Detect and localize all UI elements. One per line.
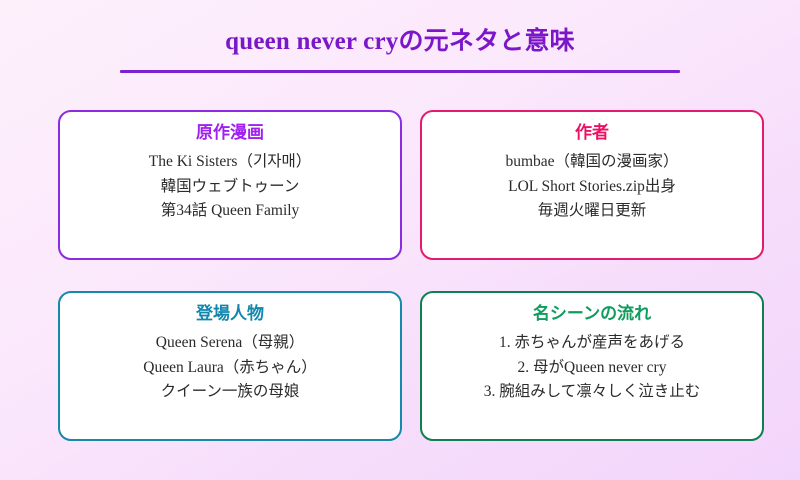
card-source-line-2: 韓国ウェブトゥーン bbox=[161, 177, 300, 196]
card-author: 作者 bumbae（韓国の漫画家） LOL Short Stories.zip出… bbox=[420, 110, 764, 260]
card-author-lines: bumbae（韓国の漫画家） LOL Short Stories.zip出身 毎… bbox=[432, 152, 752, 220]
card-author-line-1: bumbae（韓国の漫画家） bbox=[505, 152, 678, 171]
card-scene-step-1: 1. 赤ちゃんが産声をあげる bbox=[499, 333, 685, 352]
card-scene-lines: 1. 赤ちゃんが産声をあげる 2. 母がQueen never cry 3. 腕… bbox=[432, 333, 752, 401]
card-source-line-1: The Ki Sisters（기자매） bbox=[149, 152, 311, 171]
card-source-title: 原作漫画 bbox=[196, 123, 264, 143]
card-characters-lines: Queen Serena（母親） Queen Laura（赤ちゃん） クイーン一… bbox=[70, 333, 390, 401]
card-author-line-3: 毎週火曜日更新 bbox=[538, 201, 647, 220]
card-author-line-2: LOL Short Stories.zip出身 bbox=[508, 177, 676, 196]
card-source-lines: The Ki Sisters（기자매） 韓国ウェブトゥーン 第34話 Queen… bbox=[70, 152, 390, 220]
card-scene-step-2: 2. 母がQueen never cry bbox=[518, 358, 667, 377]
card-scene-step-3: 3. 腕組みして凛々しく泣き止む bbox=[484, 382, 701, 401]
card-scene: 名シーンの流れ 1. 赤ちゃんが産声をあげる 2. 母がQueen never … bbox=[420, 291, 764, 441]
page-title: queen never cryの元ネタと意味 bbox=[0, 28, 800, 56]
card-source: 原作漫画 The Ki Sisters（기자매） 韓国ウェブトゥーン 第34話 … bbox=[58, 110, 402, 260]
infographic-root: queen never cryの元ネタと意味 原作漫画 The Ki Siste… bbox=[0, 0, 800, 480]
card-author-title: 作者 bbox=[575, 123, 609, 143]
card-characters-line-3: クイーン一族の母娘 bbox=[161, 382, 300, 401]
header: queen never cryの元ネタと意味 bbox=[0, 0, 800, 73]
title-divider bbox=[120, 70, 680, 73]
card-characters-title: 登場人物 bbox=[196, 304, 264, 324]
card-characters-line-2: Queen Laura（赤ちゃん） bbox=[143, 358, 316, 377]
card-characters-line-1: Queen Serena（母親） bbox=[156, 333, 305, 352]
card-characters: 登場人物 Queen Serena（母親） Queen Laura（赤ちゃん） … bbox=[58, 291, 402, 441]
card-scene-title: 名シーンの流れ bbox=[533, 304, 651, 324]
card-source-line-3: 第34話 Queen Family bbox=[161, 201, 300, 220]
card-grid: 原作漫画 The Ki Sisters（기자매） 韓国ウェブトゥーン 第34話 … bbox=[58, 110, 744, 441]
